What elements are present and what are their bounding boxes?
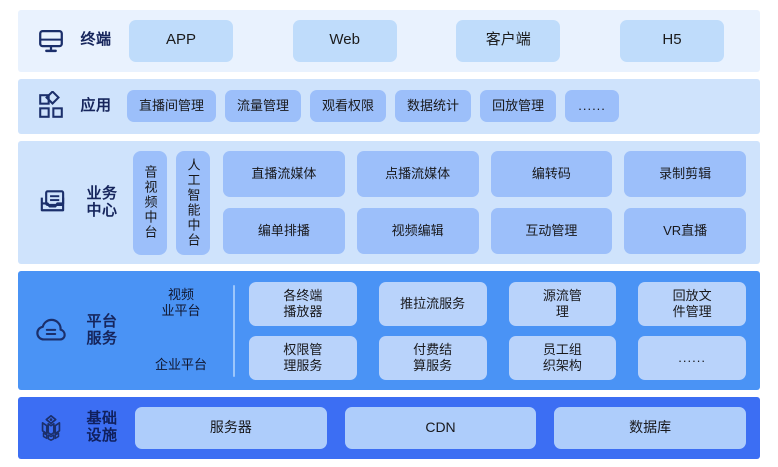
server-cube-icon — [34, 411, 68, 445]
terminal-card-app[interactable]: APP — [129, 20, 233, 62]
layer-business-center: 业务 中心 音视频中台 人工智能中台 直播流媒体 点播流媒体 编转码 录制剪辑 … — [18, 141, 760, 264]
layer-platform-service-title: 平台 服务 — [79, 314, 125, 348]
biz-card-transcoding[interactable]: 编转码 — [491, 151, 613, 197]
layer-application-cards: 直播间管理 流量管理 观看权限 数据统计 回放管理 ...... — [113, 79, 760, 135]
biz-card-record-edit[interactable]: 录制剪辑 — [624, 151, 746, 197]
plat-card-payment-settlement-service[interactable]: 付费结 算服务 — [379, 336, 487, 380]
platform-label-video-platform[interactable]: 视频 业平台 — [161, 287, 200, 320]
app-card-viewing-permission[interactable]: 观看权限 — [310, 90, 386, 122]
plat-card-source-stream-management[interactable]: 源流管 理 — [509, 282, 617, 326]
layer-business-center-header: 业务 中心 — [18, 186, 125, 220]
plat-card-multi-terminal-player[interactable]: 各终端 播放器 — [249, 282, 357, 326]
biz-card-interaction-management[interactable]: 互动管理 — [491, 208, 613, 254]
terminal-card-client[interactable]: 客户端 — [456, 20, 560, 62]
terminal-card-h5[interactable]: H5 — [620, 20, 724, 62]
layer-application: 应用 直播间管理 流量管理 观看权限 数据统计 回放管理 ...... — [18, 79, 760, 135]
platform-service-grid: 各终端 播放器 推拉流服务 源流管 理 回放文 件管理 权限管 理服务 付费结 … — [249, 282, 746, 380]
platform-side-labels: 视频 业平台 企业平台 — [135, 283, 227, 379]
layer-business-center-title: 业务 中心 — [79, 186, 125, 220]
plat-card-push-pull-stream-service[interactable]: 推拉流服务 — [379, 282, 487, 326]
layer-terminal: 终端 APP Web 客户端 H5 — [18, 10, 760, 72]
biz-card-program-scheduling[interactable]: 编单排播 — [223, 208, 345, 254]
plat-card-playback-file-management[interactable]: 回放文 件管理 — [638, 282, 746, 326]
biz-vcard-ai-midend[interactable]: 人工智能中台 — [176, 151, 210, 255]
cloud-icon — [34, 314, 68, 348]
app-card-playback-management[interactable]: 回放管理 — [480, 90, 556, 122]
layer-platform-service: 平台 服务 视频 业平台 企业平台 各终端 播放器 推拉流服务 源流管 理 回放… — [18, 271, 760, 390]
app-grid-icon — [34, 89, 68, 123]
app-card-traffic-management[interactable]: 流量管理 — [225, 90, 301, 122]
layer-platform-service-body: 视频 业平台 企业平台 各终端 播放器 推拉流服务 源流管 理 回放文 件管理 … — [125, 271, 760, 390]
plat-card-permission-management-service[interactable]: 权限管 理服务 — [249, 336, 357, 380]
layer-infrastructure: 基础 设施 服务器 CDN 数据库 — [18, 397, 760, 459]
infra-card-server[interactable]: 服务器 — [135, 407, 327, 449]
layer-application-header: 应用 — [18, 89, 113, 123]
platform-vertical-divider — [233, 285, 235, 377]
app-card-live-room-management[interactable]: 直播间管理 — [127, 90, 216, 122]
biz-vcard-av-midend[interactable]: 音视频中台 — [133, 151, 167, 255]
infra-card-database[interactable]: 数据库 — [554, 407, 746, 449]
architecture-diagram: 终端 APP Web 客户端 H5 应用 直播间管理 流量管理 观看权限 — [0, 0, 778, 467]
layer-terminal-cards: APP Web 客户端 H5 — [113, 10, 760, 72]
monitor-icon — [34, 24, 68, 58]
layer-infrastructure-header: 基础 设施 — [18, 411, 125, 445]
layer-business-center-cards: 音视频中台 人工智能中台 直播流媒体 点播流媒体 编转码 录制剪辑 编单排播 视… — [125, 141, 760, 264]
layer-application-title: 应用 — [79, 98, 113, 115]
terminal-card-web[interactable]: Web — [293, 20, 397, 62]
layer-platform-service-header: 平台 服务 — [18, 314, 125, 348]
plat-card-more[interactable]: ...... — [638, 336, 746, 380]
layer-terminal-header: 终端 — [18, 24, 113, 58]
layer-infrastructure-title: 基础 设施 — [79, 411, 125, 445]
app-card-data-statistics[interactable]: 数据统计 — [395, 90, 471, 122]
plat-card-employee-organization[interactable]: 员工组 织架构 — [509, 336, 617, 380]
infra-card-cdn[interactable]: CDN — [345, 407, 537, 449]
biz-card-live-streaming[interactable]: 直播流媒体 — [223, 151, 345, 197]
business-center-grid: 直播流媒体 点播流媒体 编转码 录制剪辑 编单排播 视频编辑 互动管理 VR直播 — [223, 151, 746, 254]
app-card-more[interactable]: ...... — [565, 90, 619, 122]
biz-card-vr-live[interactable]: VR直播 — [624, 208, 746, 254]
inbox-doc-icon — [34, 186, 68, 220]
biz-card-video-editing[interactable]: 视频编辑 — [357, 208, 479, 254]
biz-card-vod-streaming[interactable]: 点播流媒体 — [357, 151, 479, 197]
layer-infrastructure-cards: 服务器 CDN 数据库 — [125, 397, 760, 459]
layer-terminal-title: 终端 — [79, 32, 113, 49]
platform-label-enterprise-platform[interactable]: 企业平台 — [155, 357, 207, 373]
